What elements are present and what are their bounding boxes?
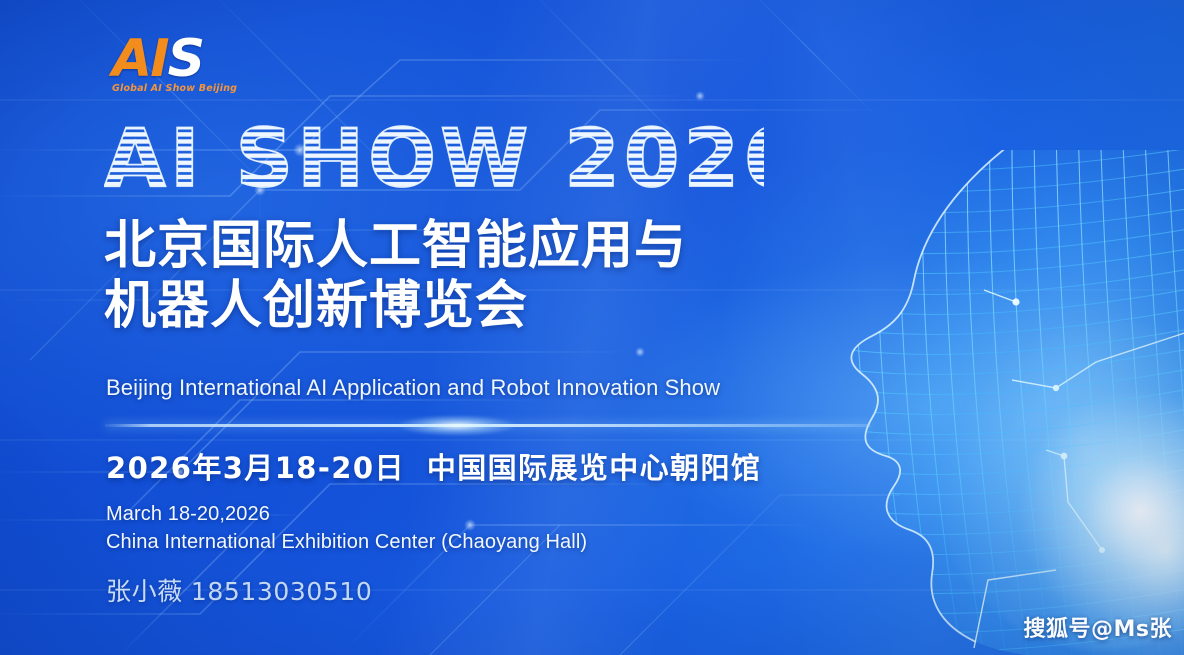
english-subtitle: Beijing International AI Application and… [106,375,720,401]
headline-text: AI SHOW 2026 [104,118,764,200]
event-date-en: March 18-20,2026 [106,500,587,528]
artwork-glow [936,320,1184,650]
event-date-cn: 2026年3月18-20日 [106,451,405,485]
title-line-2: 机器人创新博览会 [104,276,864,336]
logo-tagline: Global AI Show Beijing [112,83,242,94]
contact-info: 张小薇18513030510 [106,572,372,608]
event-date-venue-cn: 2026年3月18-20日中国国际展览中心朝阳馆 [106,445,761,487]
page-title: 北京国际人工智能应用与 机器人创新博览会 [104,216,864,337]
logo-ai-text: AI [112,29,168,89]
title-line-1: 北京国际人工智能应用与 [104,216,864,276]
contact-name: 张小薇 [106,577,183,606]
event-venue-en: China International Exhibition Center (C… [106,528,587,556]
logo-wordmark: AIS [112,33,242,85]
contact-phone: 18513030510 [191,577,373,606]
sohu-watermark: 搜狐号@Ms张 [1024,611,1173,643]
headline-ai-show-2026: AI SHOW 2026 AI SHOW 2026 [104,118,764,200]
poster-canvas: AIS Global AI Show Beijing AI SHOW 2026 … [0,0,1184,655]
section-divider [105,424,870,427]
event-venue-cn: 中国国际展览中心朝阳馆 [427,451,761,485]
event-date-venue-en: March 18-20,2026 China International Exh… [106,500,587,557]
ais-logo[interactable]: AIS Global AI Show Beijing [112,33,242,105]
logo-s-text: S [168,29,203,89]
